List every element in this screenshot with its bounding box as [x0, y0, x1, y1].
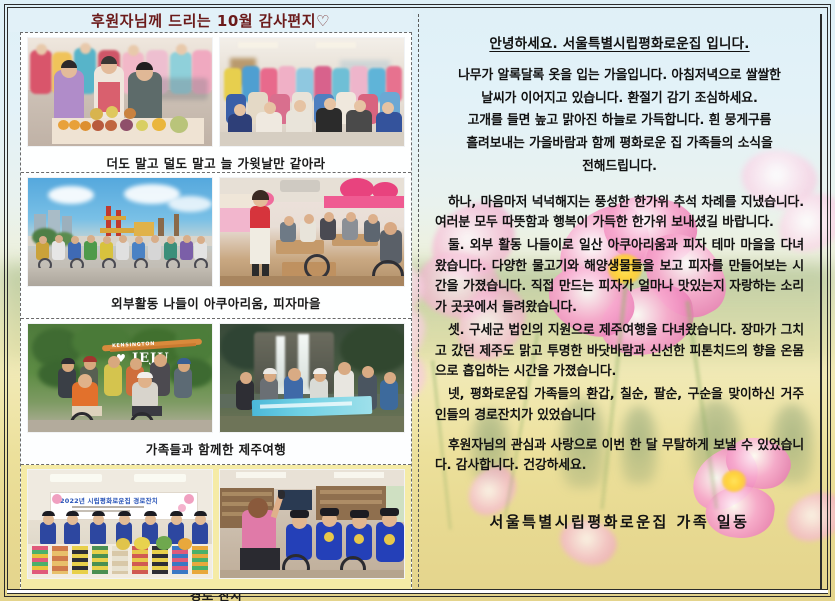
photo-block: 외부활동 나들이 아쿠아리움, 피자마을 — [21, 173, 411, 319]
header-bar: 후원자님께 드리는 10월 감사편지♡ — [8, 8, 413, 32]
photo-block: KENSINGTON JEJU ♥ — [21, 319, 411, 465]
intro-line: 전해드립니다. — [435, 157, 804, 178]
letter-signature: 서울특별시립평화로운집 가족 일동 — [435, 511, 804, 532]
page-title: 후원자님께 드리는 10월 감사편지♡ — [91, 10, 330, 31]
photo-pizza-workshop — [219, 177, 405, 287]
letter-intro: 나무가 알록달록 옷을 입는 가을입니다. 아침저녁으로 쌀쌀한 날씨가 이어지… — [435, 66, 804, 178]
letter-item: 셋. 구세군 법인의 지원으로 제주여행을 다녀왔습니다. 장마가 그치고 갔던… — [435, 321, 804, 383]
letter-items: 하나, 마음마저 넉넉해지는 풍성한 한가위 추석 차례를 지냈습니다. 여러분… — [435, 193, 804, 427]
photo-caption: 가족들과 함께한 제주여행 — [21, 433, 411, 464]
photo-block: 2022년 시립평화로운집 경로잔치 — [21, 465, 411, 591]
photo-outdoor-wheelchair-group — [27, 177, 213, 287]
photo-chuseok-ceremony — [27, 37, 213, 147]
letter-item: 넷, 평화로운집 가족들의 환갑, 칠순, 팔순, 구순을 맞이하신 거주인들의… — [435, 385, 804, 426]
photo-elders-blue-robes — [219, 469, 405, 579]
photo-caption: 외부활동 나들이 아쿠아리움, 피자마을 — [21, 287, 411, 318]
photo-hanbok-group-portrait — [219, 37, 405, 147]
banner-text: 2022년 시립평화로운집 경로잔치 — [60, 495, 158, 505]
photo-kensington-jeju: KENSINGTON JEJU ♥ — [27, 323, 213, 433]
letter-closing: 후원자님의 관심과 사랑으로 이번 한 달 무탈하게 보낼 수 있었습니다. 감… — [435, 436, 804, 477]
photo-column: 더도 말고 덜도 말고 늘 가윗날만 같아라 — [20, 32, 412, 592]
intro-line: 날씨가 이어지고 있습니다. 환절기 감기 조심하세요. — [435, 89, 804, 110]
intro-line: 고개를 들면 높고 맑아진 하늘로 가득합니다. 흰 뭉게구름 — [435, 111, 804, 132]
letter-page: 후원자님께 드리는 10월 감사편지♡ — [0, 0, 835, 601]
page-bottom-rule — [7, 589, 828, 594]
photo-jeju-waterfall — [219, 323, 405, 433]
letter-item: 둘. 외부 활동 나들이로 일산 아쿠아리움과 피자 테마 마을을 다녀왔습니다… — [435, 236, 804, 319]
letter-greeting: 안녕하세요. 서울특별시립평화로운집 입니다. — [435, 32, 804, 52]
photo-block: 더도 말고 덜도 말고 늘 가윗날만 같아라 — [21, 33, 411, 173]
intro-line: 나무가 알록달록 옷을 입는 가을입니다. 아침저녁으로 쌀쌀한 — [435, 66, 804, 87]
photo-gyeongno-janchi-stage: 2022년 시립평화로운집 경로잔치 — [27, 469, 213, 579]
letter-text-column: 안녕하세요. 서울특별시립평화로운집 입니다. 나무가 알록달록 옷을 입는 가… — [418, 14, 822, 592]
letter-item: 하나, 마음마저 넉넉해지는 풍성한 한가위 추석 차례를 지냈습니다. 여러분… — [435, 193, 804, 234]
intro-line: 흘려보내는 가을바람과 함께 평화로운 집 가족들의 소식을 — [435, 134, 804, 155]
